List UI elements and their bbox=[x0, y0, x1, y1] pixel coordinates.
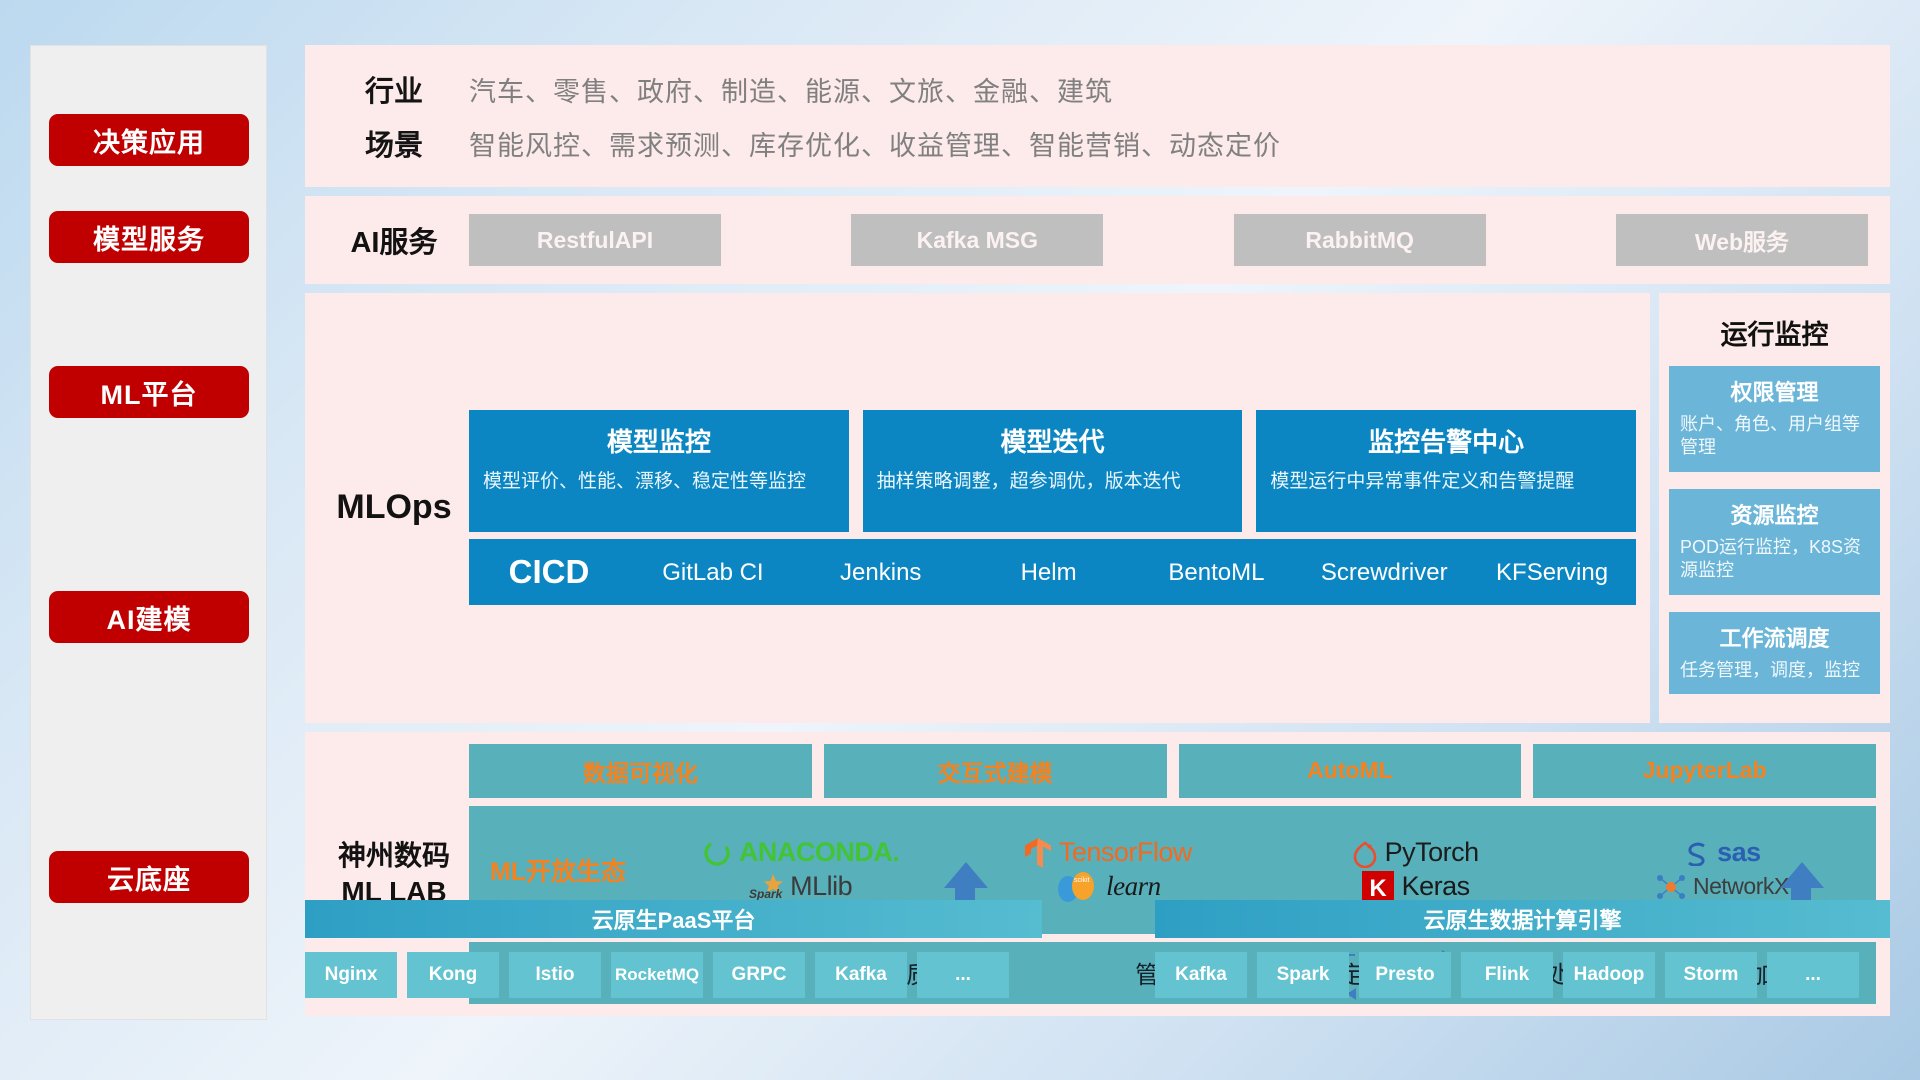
ai-services-band: AI服务 RestfulAPI Kafka MSG RabbitMQ Web服务 bbox=[305, 196, 1890, 284]
card-desc: 任务管理，调度，监控 bbox=[1680, 659, 1869, 682]
card-title: 权限管理 bbox=[1680, 375, 1869, 407]
ml-lab-tab-jupyterlab[interactable]: JupyterLab bbox=[1533, 744, 1876, 798]
card-desc: 抽样策略调整，超参调优，版本迭代 bbox=[877, 469, 1229, 495]
monitor-card-resource[interactable]: 资源监控 POD运行监控，K8S资源监控 bbox=[1669, 489, 1880, 595]
ai-service-chip-restfulapi[interactable]: RestfulAPI bbox=[469, 214, 721, 266]
card-title: 模型迭代 bbox=[877, 422, 1229, 459]
runtime-monitor-title: 运行监控 bbox=[1669, 313, 1880, 352]
ai-service-chip-rabbitmq[interactable]: RabbitMQ bbox=[1234, 214, 1486, 266]
engine-title: 云原生数据计算引擎 bbox=[1155, 900, 1890, 938]
stage-pill-ai-modeling[interactable]: AI建模 bbox=[49, 591, 249, 643]
paas-group: 云原生PaaS平台 Nginx Kong Istio RocketMQ GRPC… bbox=[305, 900, 1042, 998]
cloud-base-zone: 云原生PaaS平台 Nginx Kong Istio RocketMQ GRPC… bbox=[305, 862, 1890, 1020]
ai-services-chip-list: RestfulAPI Kafka MSG RabbitMQ Web服务 bbox=[469, 214, 1876, 266]
cicd-item-gitlab-ci[interactable]: GitLab CI bbox=[629, 560, 797, 585]
ai-services-label: AI服务 bbox=[319, 219, 469, 261]
card-title: 监控告警中心 bbox=[1270, 422, 1622, 459]
ai-service-chip-kafka-msg[interactable]: Kafka MSG bbox=[851, 214, 1103, 266]
stage-label: 决策应用 bbox=[93, 121, 205, 160]
engine-chip-kafka[interactable]: Kafka bbox=[1155, 952, 1247, 998]
ml-lab-tab-interactive-modeling[interactable]: 交互式建模 bbox=[824, 744, 1167, 798]
engine-chip-more[interactable]: ... bbox=[1767, 952, 1859, 998]
engine-arrow-head-icon bbox=[1780, 862, 1824, 888]
scenario-label: 场景 bbox=[319, 122, 469, 164]
paas-chip-rocketmq[interactable]: RocketMQ bbox=[611, 952, 703, 998]
paas-chip-kafka[interactable]: Kafka bbox=[815, 952, 907, 998]
mlops-card-alert-center[interactable]: 监控告警中心 模型运行中异常事件定义和告警提醒 bbox=[1256, 410, 1636, 532]
ml-lab-tab-automl[interactable]: AutoML bbox=[1179, 744, 1522, 798]
mlops-card-model-monitoring[interactable]: 模型监控 模型评价、性能、漂移、稳定性等监控 bbox=[469, 410, 849, 532]
stage-label: 模型服务 bbox=[93, 218, 205, 257]
engine-chip-presto[interactable]: Presto bbox=[1359, 952, 1451, 998]
applications-band: 行业 汽车、零售、政府、制造、能源、文旅、金融、建筑 场景 智能风控、需求预测、… bbox=[305, 45, 1890, 187]
cicd-item-kfserving[interactable]: KFServing bbox=[1468, 560, 1636, 585]
ml-lab-tab-list: 数据可视化 交互式建模 AutoML JupyterLab bbox=[469, 744, 1876, 798]
mlops-content: 模型监控 模型评价、性能、漂移、稳定性等监控 模型迭代 抽样策略调整，超参调优，… bbox=[469, 410, 1636, 605]
stage-pill-decision[interactable]: 决策应用 bbox=[49, 114, 249, 166]
mlops-card-model-iteration[interactable]: 模型迭代 抽样策略调整，超参调优，版本迭代 bbox=[863, 410, 1243, 532]
stage-label: ML平台 bbox=[101, 373, 198, 412]
ml-lab-tab-data-visualization[interactable]: 数据可视化 bbox=[469, 744, 812, 798]
engine-chip-storm[interactable]: Storm bbox=[1665, 952, 1757, 998]
mlops-card-list: 模型监控 模型评价、性能、漂移、稳定性等监控 模型迭代 抽样策略调整，超参调优，… bbox=[469, 410, 1636, 532]
card-title: 工作流调度 bbox=[1680, 621, 1869, 653]
cicd-item-helm[interactable]: Helm bbox=[965, 560, 1133, 585]
industry-label: 行业 bbox=[319, 68, 469, 110]
stage-pill-cloud-base[interactable]: 云底座 bbox=[49, 851, 249, 903]
scenario-value: 智能风控、需求预测、库存优化、收益管理、智能营销、动态定价 bbox=[469, 124, 1281, 163]
mlops-label: MLOps bbox=[319, 488, 469, 527]
paas-chip-more[interactable]: ... bbox=[917, 952, 1009, 998]
engine-group: 云原生数据计算引擎 Kafka Spark Presto Flink Hadoo… bbox=[1155, 900, 1890, 998]
stage-rail: 决策应用 模型服务 ML平台 AI建模 云底座 bbox=[30, 45, 267, 1020]
stage-label: 云底座 bbox=[107, 858, 191, 897]
engine-chip-spark[interactable]: Spark bbox=[1257, 952, 1349, 998]
stage-pill-ml-platform[interactable]: ML平台 bbox=[49, 366, 249, 418]
paas-chip-kong[interactable]: Kong bbox=[407, 952, 499, 998]
cicd-item-screwdriver[interactable]: Screwdriver bbox=[1300, 560, 1468, 585]
cicd-bar: CICD GitLab CI Jenkins Helm BentoML Scre… bbox=[469, 539, 1636, 605]
paas-title: 云原生PaaS平台 bbox=[305, 900, 1042, 938]
stage-label: AI建模 bbox=[107, 598, 192, 637]
mlops-band: MLOps 模型监控 模型评价、性能、漂移、稳定性等监控 模型迭代 抽样策略调整… bbox=[305, 293, 1650, 723]
paas-arrow-head-icon bbox=[944, 862, 988, 888]
engine-chip-flink[interactable]: Flink bbox=[1461, 952, 1553, 998]
monitor-card-workflow[interactable]: 工作流调度 任务管理，调度，监控 bbox=[1669, 612, 1880, 694]
monitor-card-permission[interactable]: 权限管理 账户、角色、用户组等管理 bbox=[1669, 366, 1880, 472]
cicd-item-list: GitLab CI Jenkins Helm BentoML Screwdriv… bbox=[629, 560, 1636, 585]
card-title: 模型监控 bbox=[483, 422, 835, 459]
stage-pill-model-service[interactable]: 模型服务 bbox=[49, 211, 249, 263]
industry-row: 行业 汽车、零售、政府、制造、能源、文旅、金融、建筑 bbox=[319, 62, 1876, 116]
card-desc: 模型运行中异常事件定义和告警提醒 bbox=[1270, 469, 1622, 495]
cicd-title: CICD bbox=[469, 553, 629, 591]
cicd-item-jenkins[interactable]: Jenkins bbox=[797, 560, 965, 585]
paas-chip-nginx[interactable]: Nginx bbox=[305, 952, 397, 998]
card-title: 资源监控 bbox=[1680, 498, 1869, 530]
runtime-monitor-column: 运行监控 权限管理 账户、角色、用户组等管理 资源监控 POD运行监控，K8S资… bbox=[1659, 293, 1890, 723]
card-desc: 账户、角色、用户组等管理 bbox=[1680, 413, 1869, 460]
scenario-row: 场景 智能风控、需求预测、库存优化、收益管理、智能营销、动态定价 bbox=[319, 116, 1876, 170]
paas-chip-istio[interactable]: Istio bbox=[509, 952, 601, 998]
industry-value: 汽车、零售、政府、制造、能源、文旅、金融、建筑 bbox=[469, 70, 1113, 109]
engine-chip-hadoop[interactable]: Hadoop bbox=[1563, 952, 1655, 998]
card-desc: 模型评价、性能、漂移、稳定性等监控 bbox=[483, 469, 835, 495]
mlops-monitor-row: MLOps 模型监控 模型评价、性能、漂移、稳定性等监控 模型迭代 抽样策略调整… bbox=[305, 293, 1890, 723]
paas-chip-grpc[interactable]: GRPC bbox=[713, 952, 805, 998]
card-desc: POD运行监控，K8S资源监控 bbox=[1680, 536, 1869, 583]
cicd-item-bentoml[interactable]: BentoML bbox=[1132, 560, 1300, 585]
engine-chip-list: Kafka Spark Presto Flink Hadoop Storm ..… bbox=[1155, 952, 1890, 998]
paas-chip-list: Nginx Kong Istio RocketMQ GRPC Kafka ... bbox=[305, 952, 1042, 998]
ai-service-chip-web[interactable]: Web服务 bbox=[1616, 214, 1868, 266]
